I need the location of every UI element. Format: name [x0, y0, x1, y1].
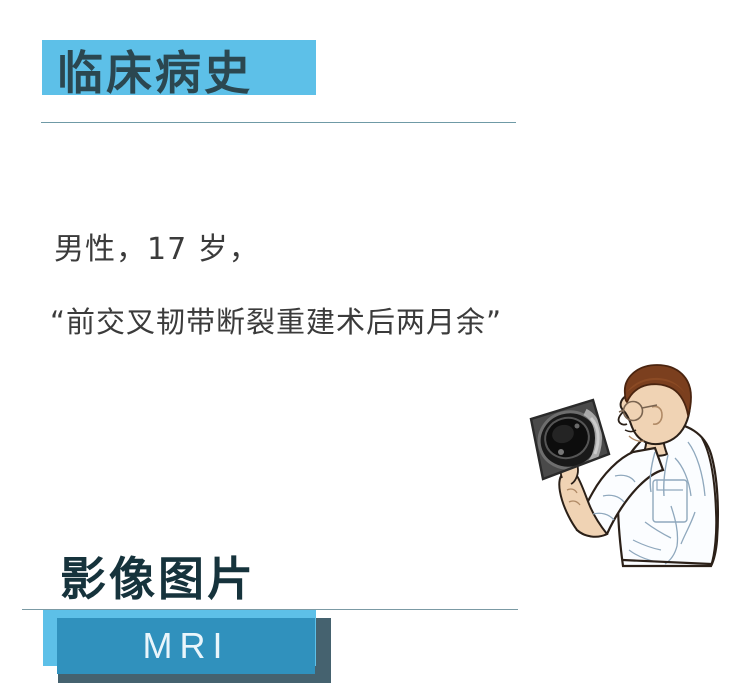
- clinical-history-heading: 临床病史: [57, 44, 253, 102]
- doctor-illustration-svg: [505, 362, 751, 616]
- mri-modality-label: MRI: [57, 618, 315, 674]
- section-clinical-history: 临床病史: [0, 0, 751, 135]
- chief-complaint-line: “前交叉韧带断裂重建术后两月余”: [50, 300, 502, 344]
- clinical-section-divider: [41, 122, 516, 123]
- imaging-pictures-heading: 影像图片: [60, 550, 256, 608]
- slide-root: 临床病史 男性，17 岁， “前交叉韧带断裂重建术后两月余”: [0, 0, 751, 696]
- mouth: [625, 430, 636, 432]
- patient-demographics-line: 男性，17 岁，: [54, 228, 260, 272]
- doctor-reading-mri-film-illustration: [505, 362, 751, 616]
- lab-coat-body: [618, 424, 718, 566]
